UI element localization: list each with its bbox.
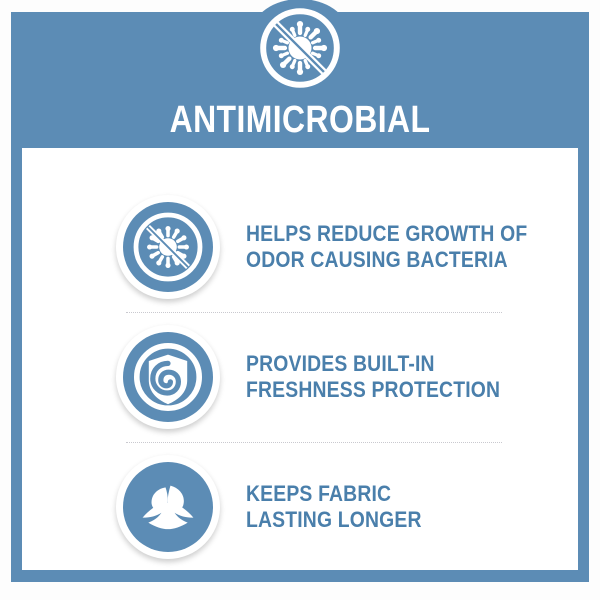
content-panel: HELPS REDUCE GROWTH OF ODOR CAUSING BACT… [22,148,578,570]
row-divider [126,312,502,314]
feature-text-line2: ODOR CAUSING BACTERIA [246,247,527,273]
feature-text-line1: HELPS REDUCE GROWTH OF [246,221,527,247]
feature-row: PROVIDES BUILT-IN FRESHNESS PROTECTION [22,318,578,436]
feature-text: PROVIDES BUILT-IN FRESHNESS PROTECTION [246,351,500,403]
feature-text-line1: KEEPS FABRIC [246,481,422,507]
blue-frame: ANTIMICROBIAL [11,12,589,582]
feature-row: KEEPS FABRIC LASTING LONGER [22,448,578,566]
feature-text-line2: FRESHNESS PROTECTION [246,377,500,403]
virus-blocked-icon [254,2,346,94]
feature-text: HELPS REDUCE GROWTH OF ODOR CAUSING BACT… [246,221,527,273]
feature-text-line2: LASTING LONGER [246,507,422,533]
header: ANTIMICROBIAL [11,12,589,148]
feature-row: HELPS REDUCE GROWTH OF ODOR CAUSING BACT… [22,188,578,306]
icon-disc [123,202,213,292]
icon-disc [123,332,213,422]
feature-text-line1: PROVIDES BUILT-IN [246,351,500,377]
feature-text: KEEPS FABRIC LASTING LONGER [246,481,422,533]
page-title: ANTIMICROBIAL [57,100,543,140]
feature-list: HELPS REDUCE GROWTH OF ODOR CAUSING BACT… [22,148,578,570]
virus-blocked-icon [116,195,220,299]
row-divider [126,442,502,444]
icon-disc [123,462,213,552]
shield-freshness-icon [116,325,220,429]
leaf-fabric-icon [116,455,220,559]
antimicrobial-infographic: ANTIMICROBIAL [0,0,600,600]
